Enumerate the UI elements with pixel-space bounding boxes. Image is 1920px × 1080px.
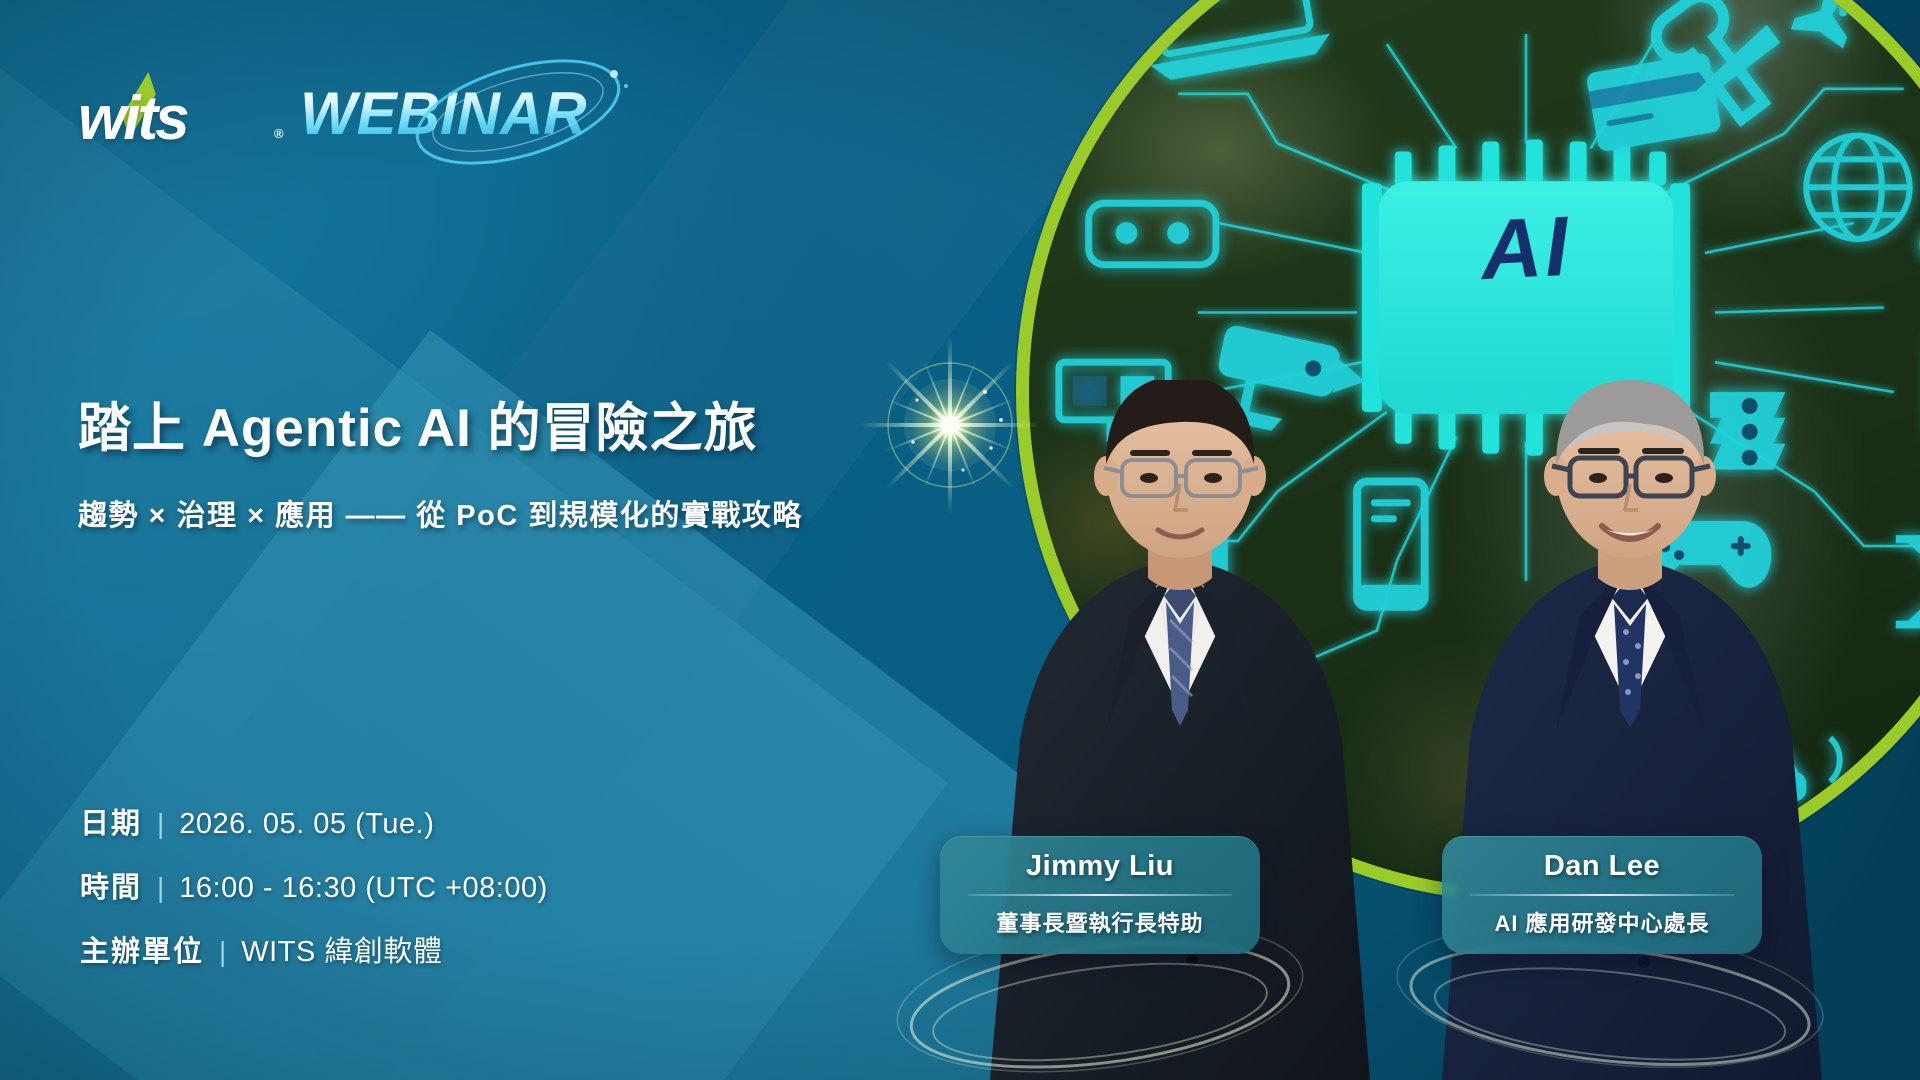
speaker-photo-2 xyxy=(1430,380,1830,1080)
organizer-value: WITS 緯創軟體 xyxy=(241,928,442,970)
page-title: 踏上 Agentic AI 的冒險之旅 xyxy=(78,386,1078,462)
nameplate-divider-1 xyxy=(968,894,1232,896)
speaker-name-1: Jimmy Liu xyxy=(940,850,1260,883)
time-value: 16:00 - 16:30 (UTC +08:00) xyxy=(179,872,547,905)
speaker-nameplate-2: Dan Lee AI 應用研發中心處長 xyxy=(1442,836,1762,954)
wits-logo: wits ® xyxy=(78,74,288,154)
event-detail-row: 時間 | 16:00 - 16:30 (UTC +08:00) xyxy=(80,864,548,906)
speaker-title-2: AI 應用研發中心處長 xyxy=(1442,906,1762,938)
speaker-name-2: Dan Lee xyxy=(1442,850,1762,883)
detail-separator: | xyxy=(219,936,226,968)
logo-lockup: wits ® WEBINAR xyxy=(78,68,587,160)
event-details: 日期 | 2026. 05. 05 (Tue.) 時間 | 16:00 - 16… xyxy=(80,800,548,992)
nameplate-divider-2 xyxy=(1470,894,1734,896)
speaker-title-1: 董事長暨執行長特助 xyxy=(940,906,1260,938)
event-detail-row: 日期 | 2026. 05. 05 (Tue.) xyxy=(80,800,548,842)
detail-separator: | xyxy=(157,872,164,904)
event-detail-row: 主辦單位 | WITS 緯創軟體 xyxy=(80,928,548,970)
page-subtitle: 趨勢 × 治理 × 應用 —— 從 PoC 到規模化的實戰攻略 xyxy=(78,492,1078,534)
date-label: 日期 xyxy=(80,800,142,842)
date-value: 2026. 05. 05 (Tue.) xyxy=(179,808,434,841)
webinar-wordmark: WEBINAR xyxy=(300,84,587,144)
registered-trademark-icon: ® xyxy=(274,126,284,141)
time-label: 時間 xyxy=(80,864,142,906)
wits-wordmark: wits xyxy=(78,88,187,150)
organizer-label: 主辦單位 xyxy=(80,928,204,970)
speaker-photo-1 xyxy=(980,380,1380,1080)
webinar-banner: wits ® WEBINAR xyxy=(0,0,1920,1080)
speakers-group: Jimmy Liu 董事長暨執行長特助 Dan Lee AI 應用研發中心處長 xyxy=(1000,0,1920,1080)
headline-block: 踏上 Agentic AI 的冒險之旅 趨勢 × 治理 × 應用 —— 從 Po… xyxy=(78,386,1078,534)
speaker-nameplate-1: Jimmy Liu 董事長暨執行長特助 xyxy=(940,836,1260,954)
detail-separator: | xyxy=(157,808,164,840)
